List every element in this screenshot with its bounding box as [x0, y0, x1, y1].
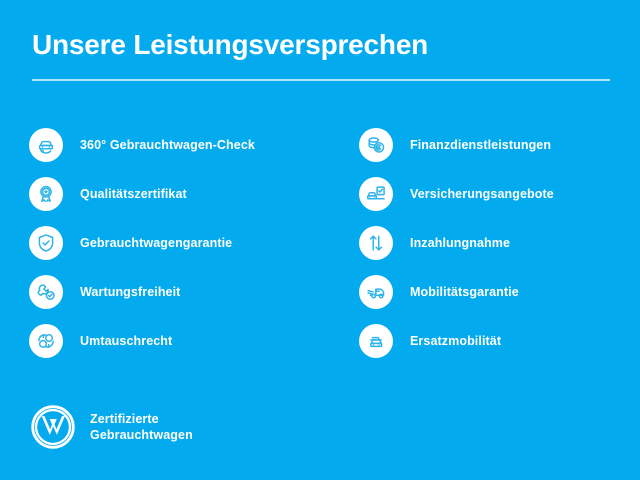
- promises-columns: 360° Gebrauchtwagen-Check Qualitätszerti…: [0, 120, 640, 365]
- promise-label: Inzahlungnahme: [410, 236, 510, 250]
- promise-label: Wartungsfreiheit: [80, 285, 180, 299]
- coins-euro-icon: [359, 128, 393, 162]
- promise-item-360-check[interactable]: 360° Gebrauchtwagen-Check: [29, 120, 330, 169]
- promise-label: 360° Gebrauchtwagen-Check: [80, 138, 255, 152]
- banner-header: Unsere Leistungsversprechen: [32, 28, 610, 81]
- two-cars-icon: [359, 324, 393, 358]
- award-rosette-icon: [29, 177, 63, 211]
- promise-label: Gebrauchtwagengarantie: [80, 236, 232, 250]
- leistungsversprechen-banner: Unsere Leistungsversprechen 360° Gebrauc…: [0, 0, 640, 480]
- promise-item-gebrauchtwagengarantie[interactable]: Gebrauchtwagengarantie: [29, 218, 330, 267]
- page-title: Unsere Leistungsversprechen: [32, 28, 610, 62]
- promise-item-versicherungsangebote[interactable]: Versicherungsangebote: [359, 169, 640, 218]
- footer-line-1: Zertifizierte: [90, 411, 193, 427]
- promise-item-qualitaetszertifikat[interactable]: Qualitätszertifikat: [29, 169, 330, 218]
- promise-item-inzahlungnahme[interactable]: Inzahlungnahme: [359, 218, 640, 267]
- promise-label: Umtauschrecht: [80, 334, 172, 348]
- title-divider: [32, 79, 610, 81]
- promise-label: Ersatzmobilität: [410, 334, 501, 348]
- tow-truck-icon: [359, 275, 393, 309]
- promise-label: Qualitätszertifikat: [80, 187, 187, 201]
- promise-label: Finanzdienstleistungen: [410, 138, 551, 152]
- promise-label: Versicherungsangebote: [410, 187, 554, 201]
- wrench-check-icon: [29, 275, 63, 309]
- volkswagen-logo: [30, 404, 76, 450]
- footer-caption: Zertifizierte Gebrauchtwagen: [90, 411, 193, 443]
- car-document-check-icon: [359, 177, 393, 211]
- promise-item-wartungsfreiheit[interactable]: Wartungsfreiheit: [29, 267, 330, 316]
- arrows-up-down-icon: [359, 226, 393, 260]
- footer-logo-lockup: Zertifizierte Gebrauchtwagen: [30, 404, 193, 450]
- promises-column-right: Finanzdienstleistungen Versicherungsange…: [330, 120, 640, 365]
- car-360-check-icon: [29, 128, 63, 162]
- promises-column-left: 360° Gebrauchtwagen-Check Qualitätszerti…: [0, 120, 330, 365]
- promise-item-finanzdienstleistungen[interactable]: Finanzdienstleistungen: [359, 120, 640, 169]
- promise-label: Mobilitätsgarantie: [410, 285, 519, 299]
- promise-item-mobilitaetsgarantie[interactable]: Mobilitätsgarantie: [359, 267, 640, 316]
- shield-check-icon: [29, 226, 63, 260]
- promise-item-umtauschrecht[interactable]: Umtauschrecht: [29, 316, 330, 365]
- promise-item-ersatzmobilitaet[interactable]: Ersatzmobilität: [359, 316, 640, 365]
- exchange-arrows-icon: [29, 324, 63, 358]
- footer-line-2: Gebrauchtwagen: [90, 427, 193, 443]
